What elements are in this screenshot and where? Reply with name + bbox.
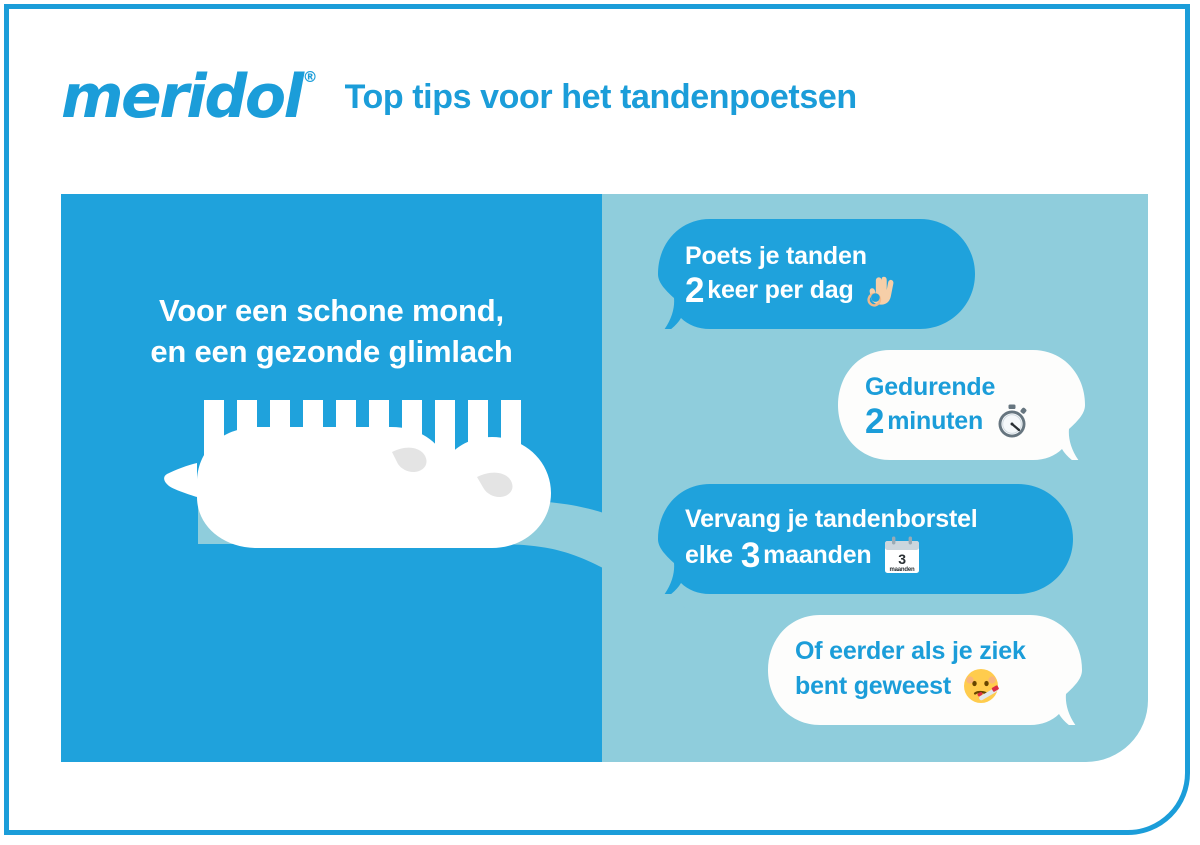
bubble-line-1: Of eerder als je ziek xyxy=(795,635,1055,668)
stopwatch-icon xyxy=(994,403,1030,439)
ok-hand-icon xyxy=(865,273,899,307)
page-title: Top tips voor het tandenpoetsen xyxy=(345,78,857,117)
calendar-label: maanden xyxy=(890,567,915,573)
tip-bubble-two-minutes[interactable]: Gedurende 2 minuten xyxy=(835,350,1088,460)
bubble-line-2-text: minuten xyxy=(887,405,983,438)
bubble-line-1: Gedurende xyxy=(865,371,1058,404)
calendar-number: 3 xyxy=(899,551,907,567)
tip-bubble-after-illness[interactable]: Of eerder als je ziek bent geweest xyxy=(765,615,1085,725)
bubble-number: 2 xyxy=(685,273,704,308)
bubble-line-2-text: maanden xyxy=(763,539,871,572)
bubble-text: Poets je tanden 2 keer per dag xyxy=(655,240,975,308)
bubble-line-2: elke 3 maanden 3 maanden xyxy=(685,535,1043,575)
calendar-icon: 3 maanden xyxy=(883,535,921,575)
header: meridol® Top tips voor het tandenpoetsen xyxy=(61,62,1141,132)
bubble-number: 3 xyxy=(741,538,760,573)
bubble-line-1: Vervang je tandenborstel xyxy=(685,503,1043,536)
face-with-thermometer-icon xyxy=(962,667,1000,705)
infographic-poster: meridol® Top tips voor het tandenpoetsen… xyxy=(0,0,1200,845)
bubble-line-2: 2 minuten xyxy=(865,403,1058,439)
bubble-text: Of eerder als je ziek bent geweest xyxy=(765,635,1085,706)
tip-bubble-replace-brush[interactable]: Vervang je tandenborstel elke 3 maanden … xyxy=(655,484,1073,594)
bubble-line-2-prefix: elke xyxy=(685,539,733,572)
bubble-number: 2 xyxy=(865,404,884,439)
registered-trademark-icon: ® xyxy=(303,68,318,86)
bubble-line-2-text: keer per dag xyxy=(707,274,853,307)
bubble-line-2-text: bent geweest xyxy=(795,670,951,703)
brand-logo: meridol® xyxy=(61,67,317,127)
bubble-text: Vervang je tandenborstel elke 3 maanden … xyxy=(655,503,1073,576)
tip-bubble-twice-daily[interactable]: Poets je tanden 2 keer per dag xyxy=(655,219,975,329)
bubble-line-1: Poets je tanden xyxy=(685,240,945,273)
bubble-line-2: bent geweest xyxy=(795,667,1055,705)
bubble-text: Gedurende 2 minuten xyxy=(835,371,1088,440)
bubble-line-2: 2 keer per dag xyxy=(685,273,945,308)
brand-logo-text: meridol xyxy=(61,62,302,132)
